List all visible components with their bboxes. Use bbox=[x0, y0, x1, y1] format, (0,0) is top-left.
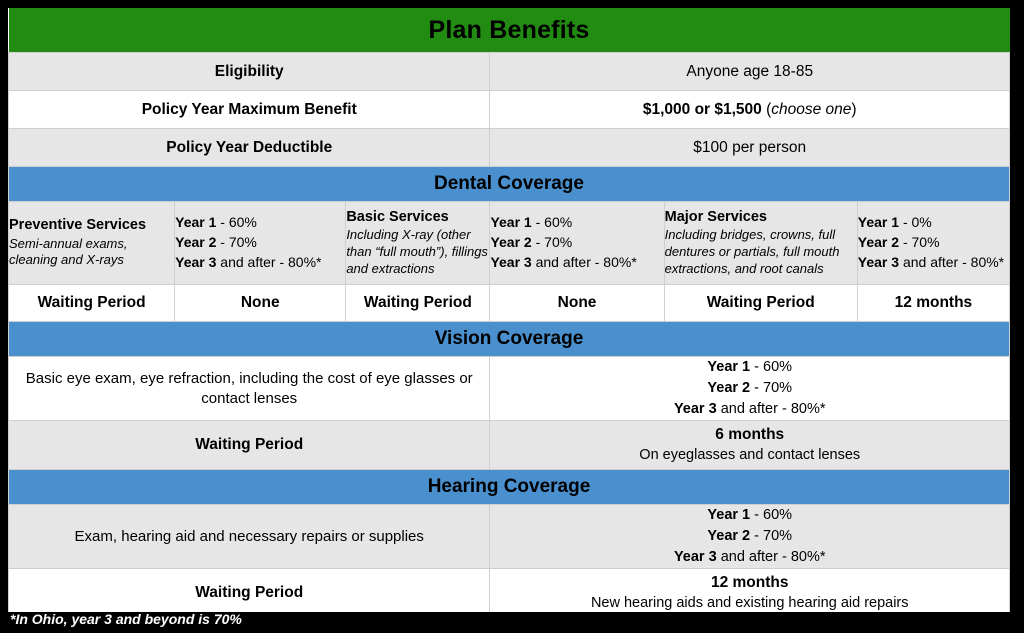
hearing-waiting-row: Waiting Period 12 months New hearing aid… bbox=[9, 569, 1010, 612]
major-services-title: Major Services bbox=[665, 209, 857, 227]
dental-waiting-row: Waiting Period None Waiting Period None … bbox=[9, 285, 1010, 322]
year-line: Year 1 - 0% bbox=[858, 213, 1009, 233]
vision-waiting-value-cell: 6 months On eyeglasses and contact lense… bbox=[490, 421, 1010, 470]
year-line: Year 2 - 70% bbox=[175, 233, 345, 253]
preventive-services-desc: Semi-annual exams, cleaning and X-rays bbox=[9, 236, 174, 269]
year-label: Year 3 bbox=[674, 549, 717, 565]
basic-services-years: Year 1 - 60% Year 2 - 70% Year 3 and aft… bbox=[490, 202, 664, 285]
major-services-cell: Major Services Including bridges, crowns… bbox=[664, 202, 857, 285]
year-line: Year 3 and after - 80%* bbox=[175, 253, 345, 273]
year-value: - 70% bbox=[750, 380, 792, 396]
year-line: Year 2 - 70% bbox=[490, 526, 1009, 547]
preventive-services-years: Year 1 - 60% Year 2 - 70% Year 3 and aft… bbox=[175, 202, 346, 285]
major-services-years: Year 1 - 0% Year 2 - 70% Year 3 and afte… bbox=[857, 202, 1009, 285]
year-value: and after - 80%* bbox=[532, 254, 637, 270]
year-label: Year 1 bbox=[858, 214, 899, 230]
vision-detail-row: Basic eye exam, eye refraction, includin… bbox=[9, 357, 1010, 421]
year-value: and after - 80%* bbox=[717, 549, 826, 565]
policy-max-benefit-value: $1,000 or $1,500 (choose one) bbox=[490, 91, 1010, 129]
vision-years: Year 1 - 60% Year 2 - 70% Year 3 and aft… bbox=[490, 357, 1010, 421]
year-value: - 60% bbox=[750, 359, 792, 375]
year-value: - 70% bbox=[532, 234, 572, 250]
year-value: and after - 80%* bbox=[717, 401, 826, 417]
year-value: - 70% bbox=[750, 528, 792, 544]
plan-benefits-screenshot: Plan Benefits Eligibility Anyone age 18-… bbox=[0, 0, 1024, 633]
vision-section-row: Vision Coverage bbox=[9, 322, 1010, 357]
row-eligibility: Eligibility Anyone age 18-85 bbox=[9, 53, 1010, 91]
major-waiting-label: Waiting Period bbox=[664, 285, 857, 322]
year-label: Year 1 bbox=[707, 359, 750, 375]
year-label: Year 3 bbox=[490, 254, 531, 270]
major-services-desc: Including bridges, crowns, full dentures… bbox=[665, 227, 857, 277]
year-line: Year 2 - 70% bbox=[490, 378, 1009, 399]
year-value: - 60% bbox=[532, 214, 572, 230]
benefits-table-frame: Plan Benefits Eligibility Anyone age 18-… bbox=[8, 8, 1010, 612]
year-line: Year 2 - 70% bbox=[858, 233, 1009, 253]
vision-waiting-value: 6 months bbox=[490, 425, 1009, 446]
year-label: Year 2 bbox=[858, 234, 899, 250]
preventive-services-title: Preventive Services bbox=[9, 217, 174, 235]
year-label: Year 2 bbox=[175, 234, 216, 250]
vision-section-title: Vision Coverage bbox=[435, 328, 584, 349]
choose-one-note: choose one bbox=[771, 101, 851, 118]
year-label: Year 1 bbox=[490, 214, 531, 230]
year-line: Year 3 and after - 80%* bbox=[490, 399, 1009, 420]
year-label: Year 3 bbox=[674, 401, 717, 417]
hearing-section-banner: Hearing Coverage bbox=[9, 470, 1010, 505]
basic-services-desc: Including X-ray (other than “full mouth”… bbox=[346, 227, 489, 277]
year-value: - 70% bbox=[216, 234, 256, 250]
year-value: - 70% bbox=[899, 234, 939, 250]
dental-section-row: Dental Coverage bbox=[9, 167, 1010, 202]
year-label: Year 2 bbox=[707, 528, 750, 544]
year-label: Year 1 bbox=[707, 507, 750, 523]
year-line: Year 2 - 70% bbox=[490, 233, 663, 253]
row-policy-deductible: Policy Year Deductible $100 per person bbox=[9, 129, 1010, 167]
preventive-waiting-label: Waiting Period bbox=[9, 285, 175, 322]
preventive-services-cell: Preventive Services Semi-annual exams, c… bbox=[9, 202, 175, 285]
major-waiting-value: 12 months bbox=[857, 285, 1009, 322]
hearing-waiting-value-cell: 12 months New hearing aids and existing … bbox=[490, 569, 1010, 612]
year-line: Year 1 - 60% bbox=[490, 213, 663, 233]
eligibility-value: Anyone age 18-85 bbox=[490, 53, 1010, 91]
footnote-text: *In Ohio, year 3 and beyond is 70% bbox=[10, 612, 242, 633]
year-line: Year 1 - 60% bbox=[490, 505, 1009, 526]
basic-waiting-value: None bbox=[490, 285, 664, 322]
year-label: Year 1 bbox=[175, 214, 216, 230]
dental-services-row: Preventive Services Semi-annual exams, c… bbox=[9, 202, 1010, 285]
year-line: Year 3 and after - 80%* bbox=[858, 253, 1009, 273]
year-value: - 0% bbox=[899, 214, 932, 230]
year-line: Year 3 and after - 80%* bbox=[490, 547, 1009, 568]
preventive-waiting-value: None bbox=[175, 285, 346, 322]
year-line: Year 1 - 60% bbox=[175, 213, 345, 233]
vision-waiting-note: On eyeglasses and contact lenses bbox=[490, 446, 1009, 466]
year-line: Year 1 - 60% bbox=[490, 357, 1009, 378]
hearing-detail-row: Exam, hearing aid and necessary repairs … bbox=[9, 505, 1010, 569]
title-row: Plan Benefits bbox=[9, 8, 1010, 53]
paren-open: ( bbox=[762, 101, 771, 118]
plan-benefits-table: Plan Benefits Eligibility Anyone age 18-… bbox=[8, 8, 1010, 612]
page-title: Plan Benefits bbox=[429, 16, 590, 44]
policy-max-benefit-label: Policy Year Maximum Benefit bbox=[9, 91, 490, 129]
policy-max-amount: $1,000 or $1,500 bbox=[643, 101, 762, 118]
year-value: and after - 80%* bbox=[216, 254, 321, 270]
row-policy-max-benefit: Policy Year Maximum Benefit $1,000 or $1… bbox=[9, 91, 1010, 129]
year-value: - 60% bbox=[750, 507, 792, 523]
vision-waiting-row: Waiting Period 6 months On eyeglasses an… bbox=[9, 421, 1010, 470]
year-label: Year 2 bbox=[707, 380, 750, 396]
year-label: Year 3 bbox=[175, 254, 216, 270]
basic-services-title: Basic Services bbox=[346, 209, 489, 227]
hearing-waiting-label: Waiting Period bbox=[9, 569, 490, 612]
year-value: and after - 80%* bbox=[899, 254, 1004, 270]
hearing-waiting-value: 12 months bbox=[490, 573, 1009, 594]
paren-close: ) bbox=[851, 101, 856, 118]
policy-deductible-value: $100 per person bbox=[490, 129, 1010, 167]
vision-waiting-label: Waiting Period bbox=[9, 421, 490, 470]
hearing-waiting-note: New hearing aids and existing hearing ai… bbox=[490, 594, 1009, 612]
policy-deductible-label: Policy Year Deductible bbox=[9, 129, 490, 167]
basic-waiting-label: Waiting Period bbox=[346, 285, 490, 322]
eligibility-label: Eligibility bbox=[9, 53, 490, 91]
hearing-section-title: Hearing Coverage bbox=[428, 476, 591, 497]
hearing-description: Exam, hearing aid and necessary repairs … bbox=[9, 505, 490, 569]
dental-section-title: Dental Coverage bbox=[434, 173, 584, 194]
hearing-section-row: Hearing Coverage bbox=[9, 470, 1010, 505]
hearing-years: Year 1 - 60% Year 2 - 70% Year 3 and aft… bbox=[490, 505, 1010, 569]
year-label: Year 3 bbox=[858, 254, 899, 270]
basic-services-cell: Basic Services Including X-ray (other th… bbox=[346, 202, 490, 285]
year-value: - 60% bbox=[216, 214, 256, 230]
vision-section-banner: Vision Coverage bbox=[9, 322, 1010, 357]
vision-description: Basic eye exam, eye refraction, includin… bbox=[9, 357, 490, 421]
dental-section-banner: Dental Coverage bbox=[9, 167, 1010, 202]
year-label: Year 2 bbox=[490, 234, 531, 250]
year-line: Year 3 and after - 80%* bbox=[490, 253, 663, 273]
title-banner-cell: Plan Benefits bbox=[9, 8, 1010, 53]
